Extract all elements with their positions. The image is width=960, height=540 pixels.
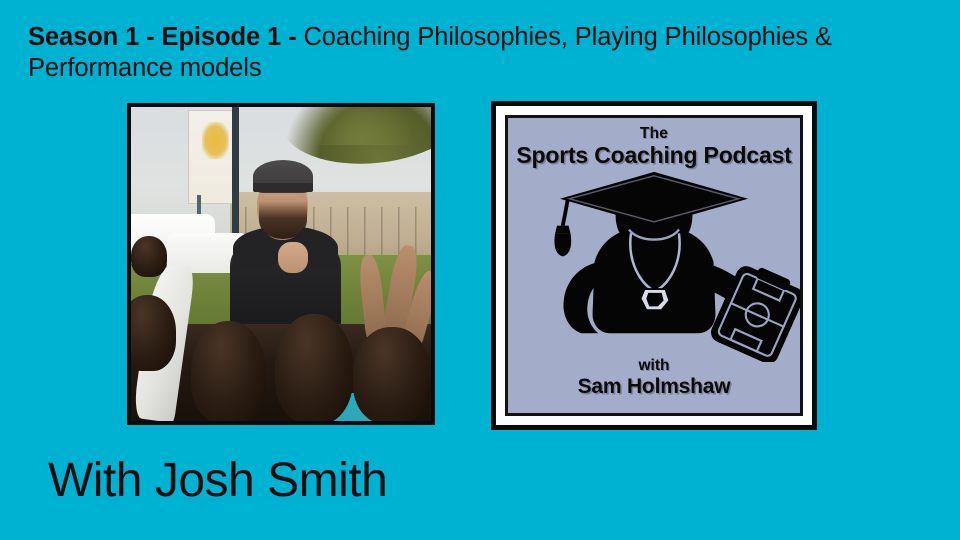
guest-credit: With Josh Smith [48, 453, 387, 508]
photo-coach-hand [278, 242, 308, 273]
cover-art-white-margin: The Sports Coaching Podcast [496, 106, 812, 425]
cover-art-podcast-name: Sports Coaching Podcast [508, 142, 800, 169]
photo-palm-tree-secondary [311, 107, 413, 145]
podcast-cover-art: The Sports Coaching Podcast [491, 101, 817, 430]
photo-coach-beard [259, 201, 307, 239]
cover-art-line-with: with [508, 357, 800, 375]
page-title: Season 1 - Episode 1 - Coaching Philosop… [28, 22, 858, 84]
cover-art-host-name: Sam Holmshaw [508, 375, 800, 399]
photo-sign-pole [232, 107, 240, 233]
photo-coach-cap-band [253, 183, 313, 192]
photo-banner-logo [202, 122, 229, 159]
podcast-episode-slide: Season 1 - Episode 1 - Coaching Philosop… [0, 0, 960, 540]
photo-child-head [353, 327, 431, 421]
photo-canvas [131, 107, 431, 421]
graduation-cap-coach-icon [508, 170, 800, 362]
photo-child-head [131, 295, 176, 370]
photo-child-head [191, 321, 266, 421]
guest-photo [127, 103, 435, 425]
photo-child-head [275, 314, 353, 421]
cover-art-line-the: The [508, 125, 800, 143]
cover-art-inner: The Sports Coaching Podcast [505, 115, 803, 416]
episode-label: Season 1 - Episode 1 - [28, 23, 303, 51]
photo-child-head [131, 236, 167, 277]
